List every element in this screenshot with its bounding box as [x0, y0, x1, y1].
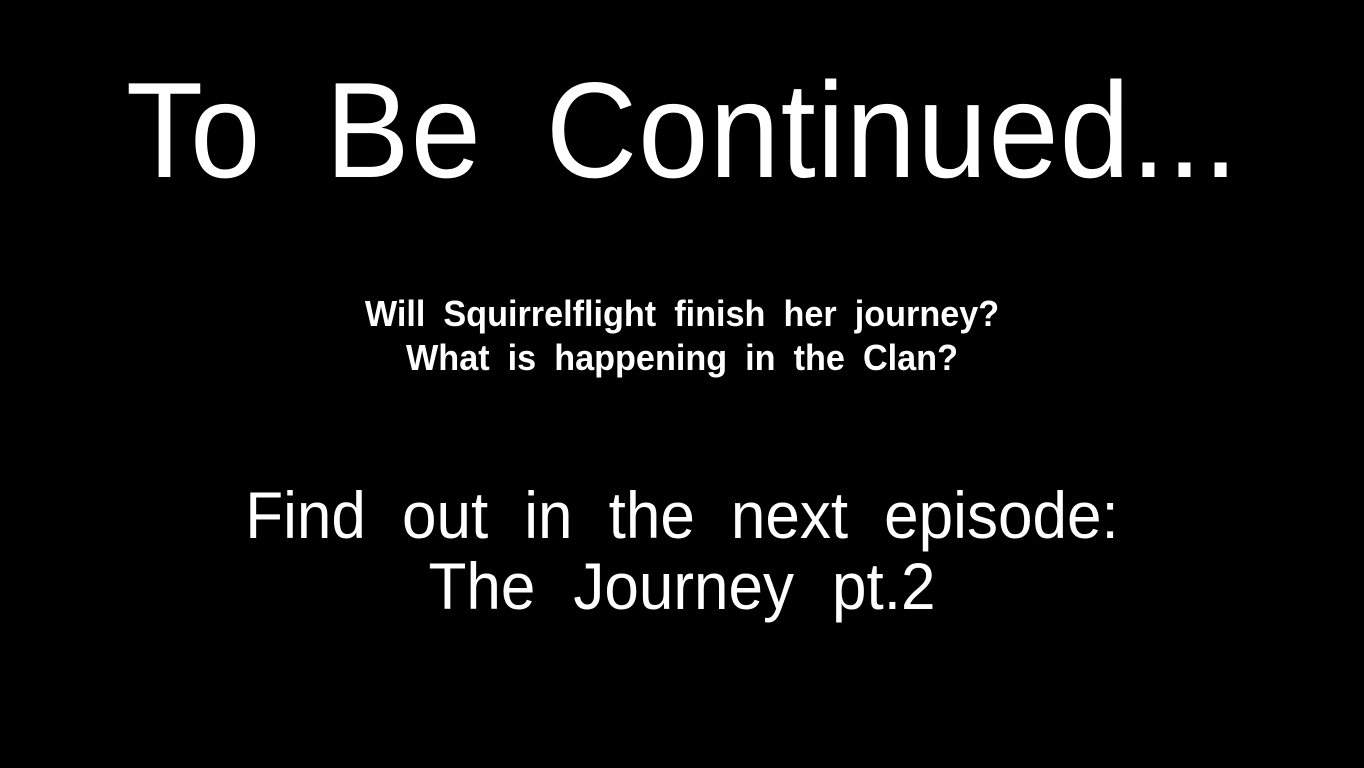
next-episode-prompt: Find out in the next episode:	[41, 480, 1323, 551]
page-title: To Be Continued...	[125, 62, 1238, 198]
cliffhanger-questions-block: Will Squirrelflight finish her journey? …	[0, 292, 1364, 380]
cliffhanger-question-2: What is happening in the Clan?	[34, 336, 1330, 380]
next-episode-block: Find out in the next episode: The Journe…	[0, 480, 1364, 622]
to-be-continued-endcard: To Be Continued... Will Squirrelflight f…	[0, 0, 1364, 768]
title-block: To Be Continued...	[0, 62, 1364, 198]
next-episode-title: The Journey pt.2	[41, 551, 1323, 622]
cliffhanger-question-1: Will Squirrelflight finish her journey?	[34, 292, 1330, 336]
